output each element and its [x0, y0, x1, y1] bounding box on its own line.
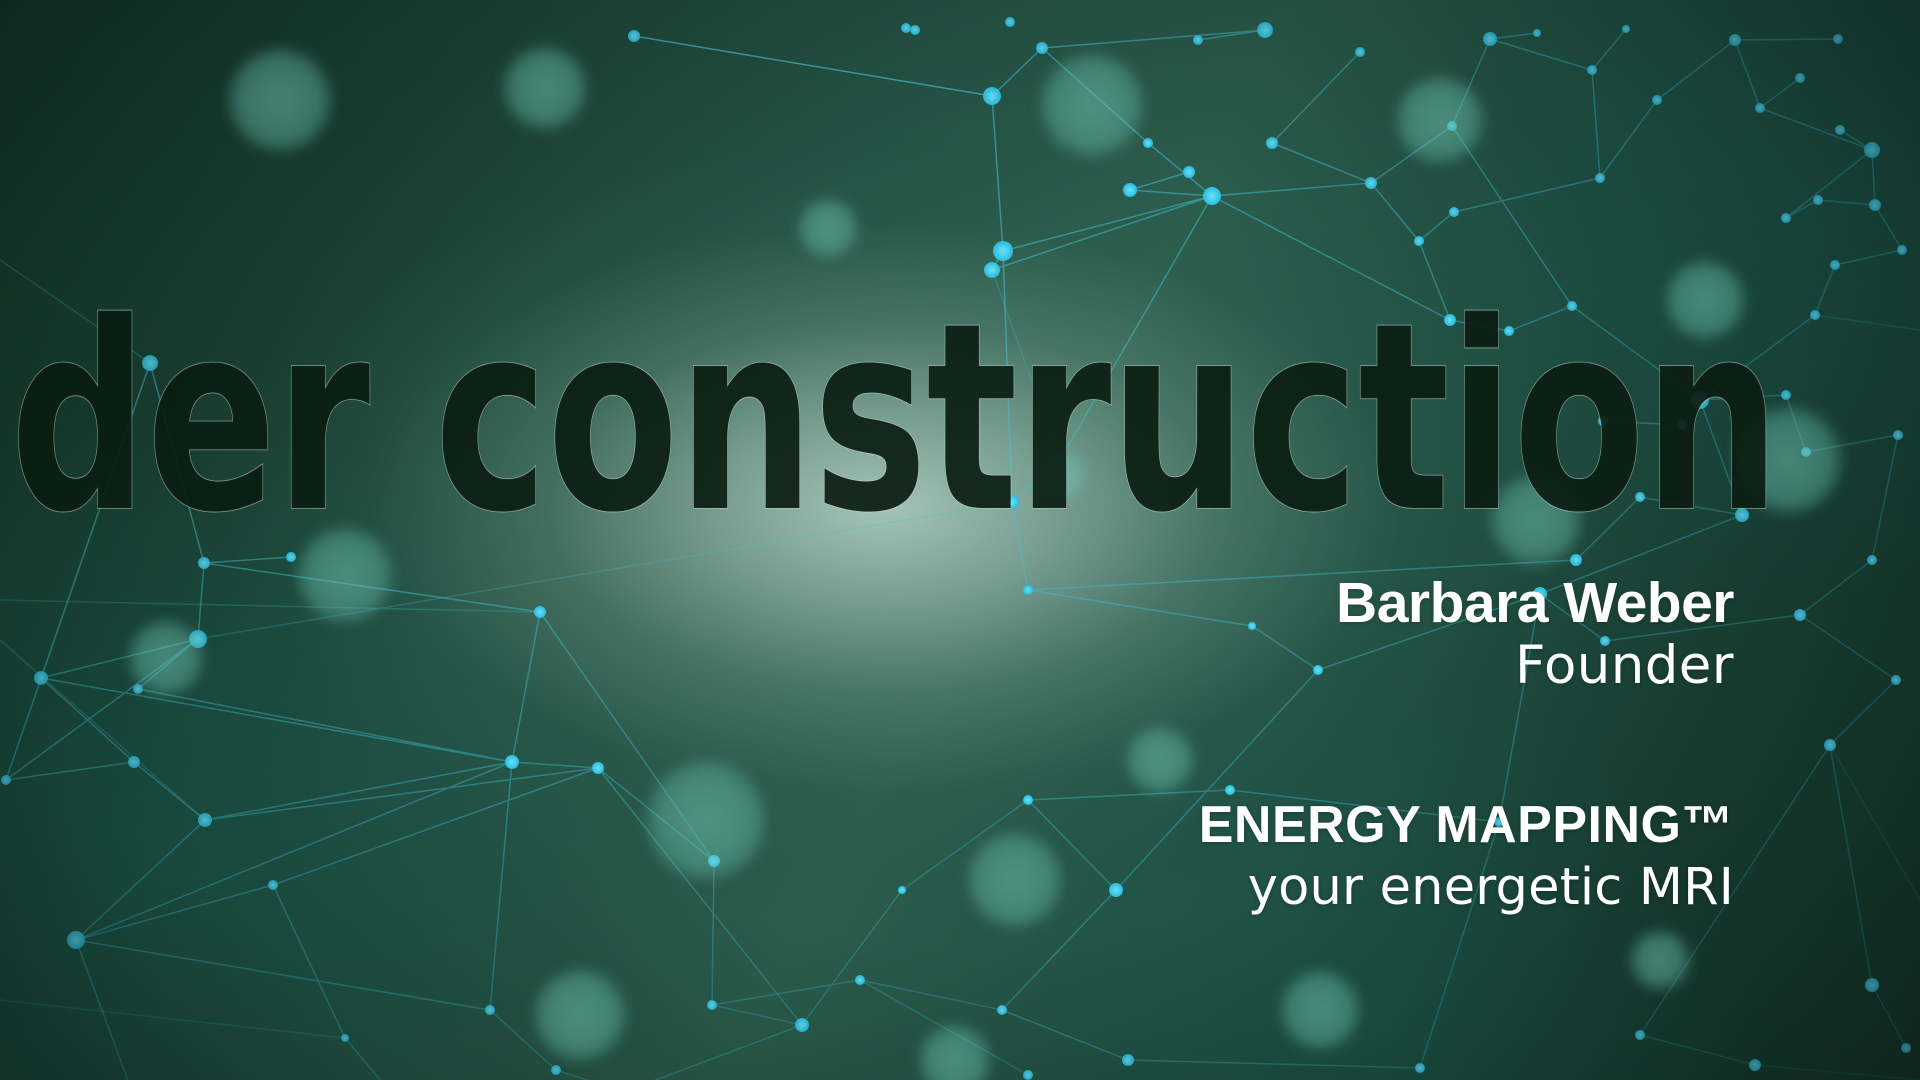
- page-headline: under construction: [176, 296, 1342, 526]
- brand-tagline: your energetic MRI: [1199, 859, 1734, 916]
- slide-canvas: under construction Barbara Weber Founder…: [0, 0, 1920, 1080]
- person-role: Founder: [1336, 637, 1734, 695]
- brand-name: ENERGY MAPPING™: [1199, 798, 1734, 853]
- brand-block: ENERGY MAPPING™ your energetic MRI: [1199, 798, 1734, 916]
- person-credit-block: Barbara Weber Founder: [1336, 574, 1734, 696]
- person-name: Barbara Weber: [1336, 574, 1734, 633]
